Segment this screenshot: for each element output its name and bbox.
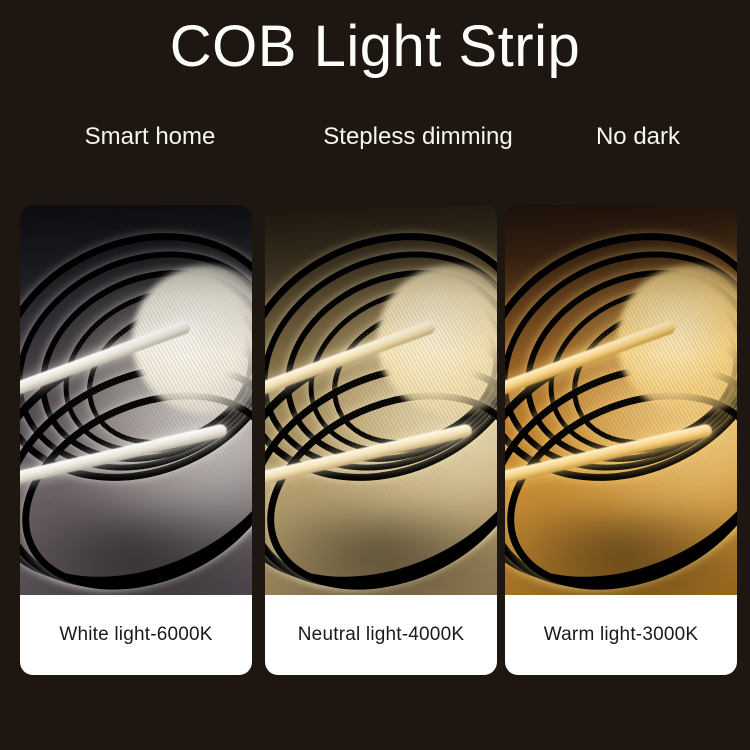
photo-floor-shadow (265, 515, 497, 595)
photo-floor-shadow (20, 515, 252, 595)
panel-warm-light[interactable]: Warm light-3000K (505, 205, 737, 675)
product-photo-neutral (265, 205, 497, 595)
photo-top-vignette (265, 205, 497, 355)
panel-caption-neutral: Neutral light-4000K (265, 595, 497, 675)
page-title: COB Light Strip (0, 18, 750, 76)
panel-caption-warm: Warm light-3000K (505, 595, 737, 675)
product-panel-group: White light-6000K (20, 205, 730, 675)
header-banner: COB Light Strip Smart home Stepless dimm… (0, 0, 750, 205)
photo-floor-shadow (505, 515, 737, 595)
feature-list: Smart home Stepless dimming No dark (0, 120, 750, 154)
caption-text: Warm light-3000K (544, 624, 699, 646)
product-photo-white (20, 205, 252, 595)
feature-smart-home: Smart home (40, 120, 260, 154)
panel-neutral-light[interactable]: Neutral light-4000K (265, 205, 497, 675)
feature-stepless-dimming: Stepless dimming (298, 120, 538, 154)
photo-top-vignette (505, 205, 737, 355)
panel-caption-white: White light-6000K (20, 595, 252, 675)
panel-white-light[interactable]: White light-6000K (20, 205, 252, 675)
feature-no-dark: No dark (560, 120, 716, 154)
photo-top-vignette (20, 205, 252, 355)
caption-text: Neutral light-4000K (298, 624, 464, 646)
product-photo-warm (505, 205, 737, 595)
caption-text: White light-6000K (59, 624, 212, 646)
